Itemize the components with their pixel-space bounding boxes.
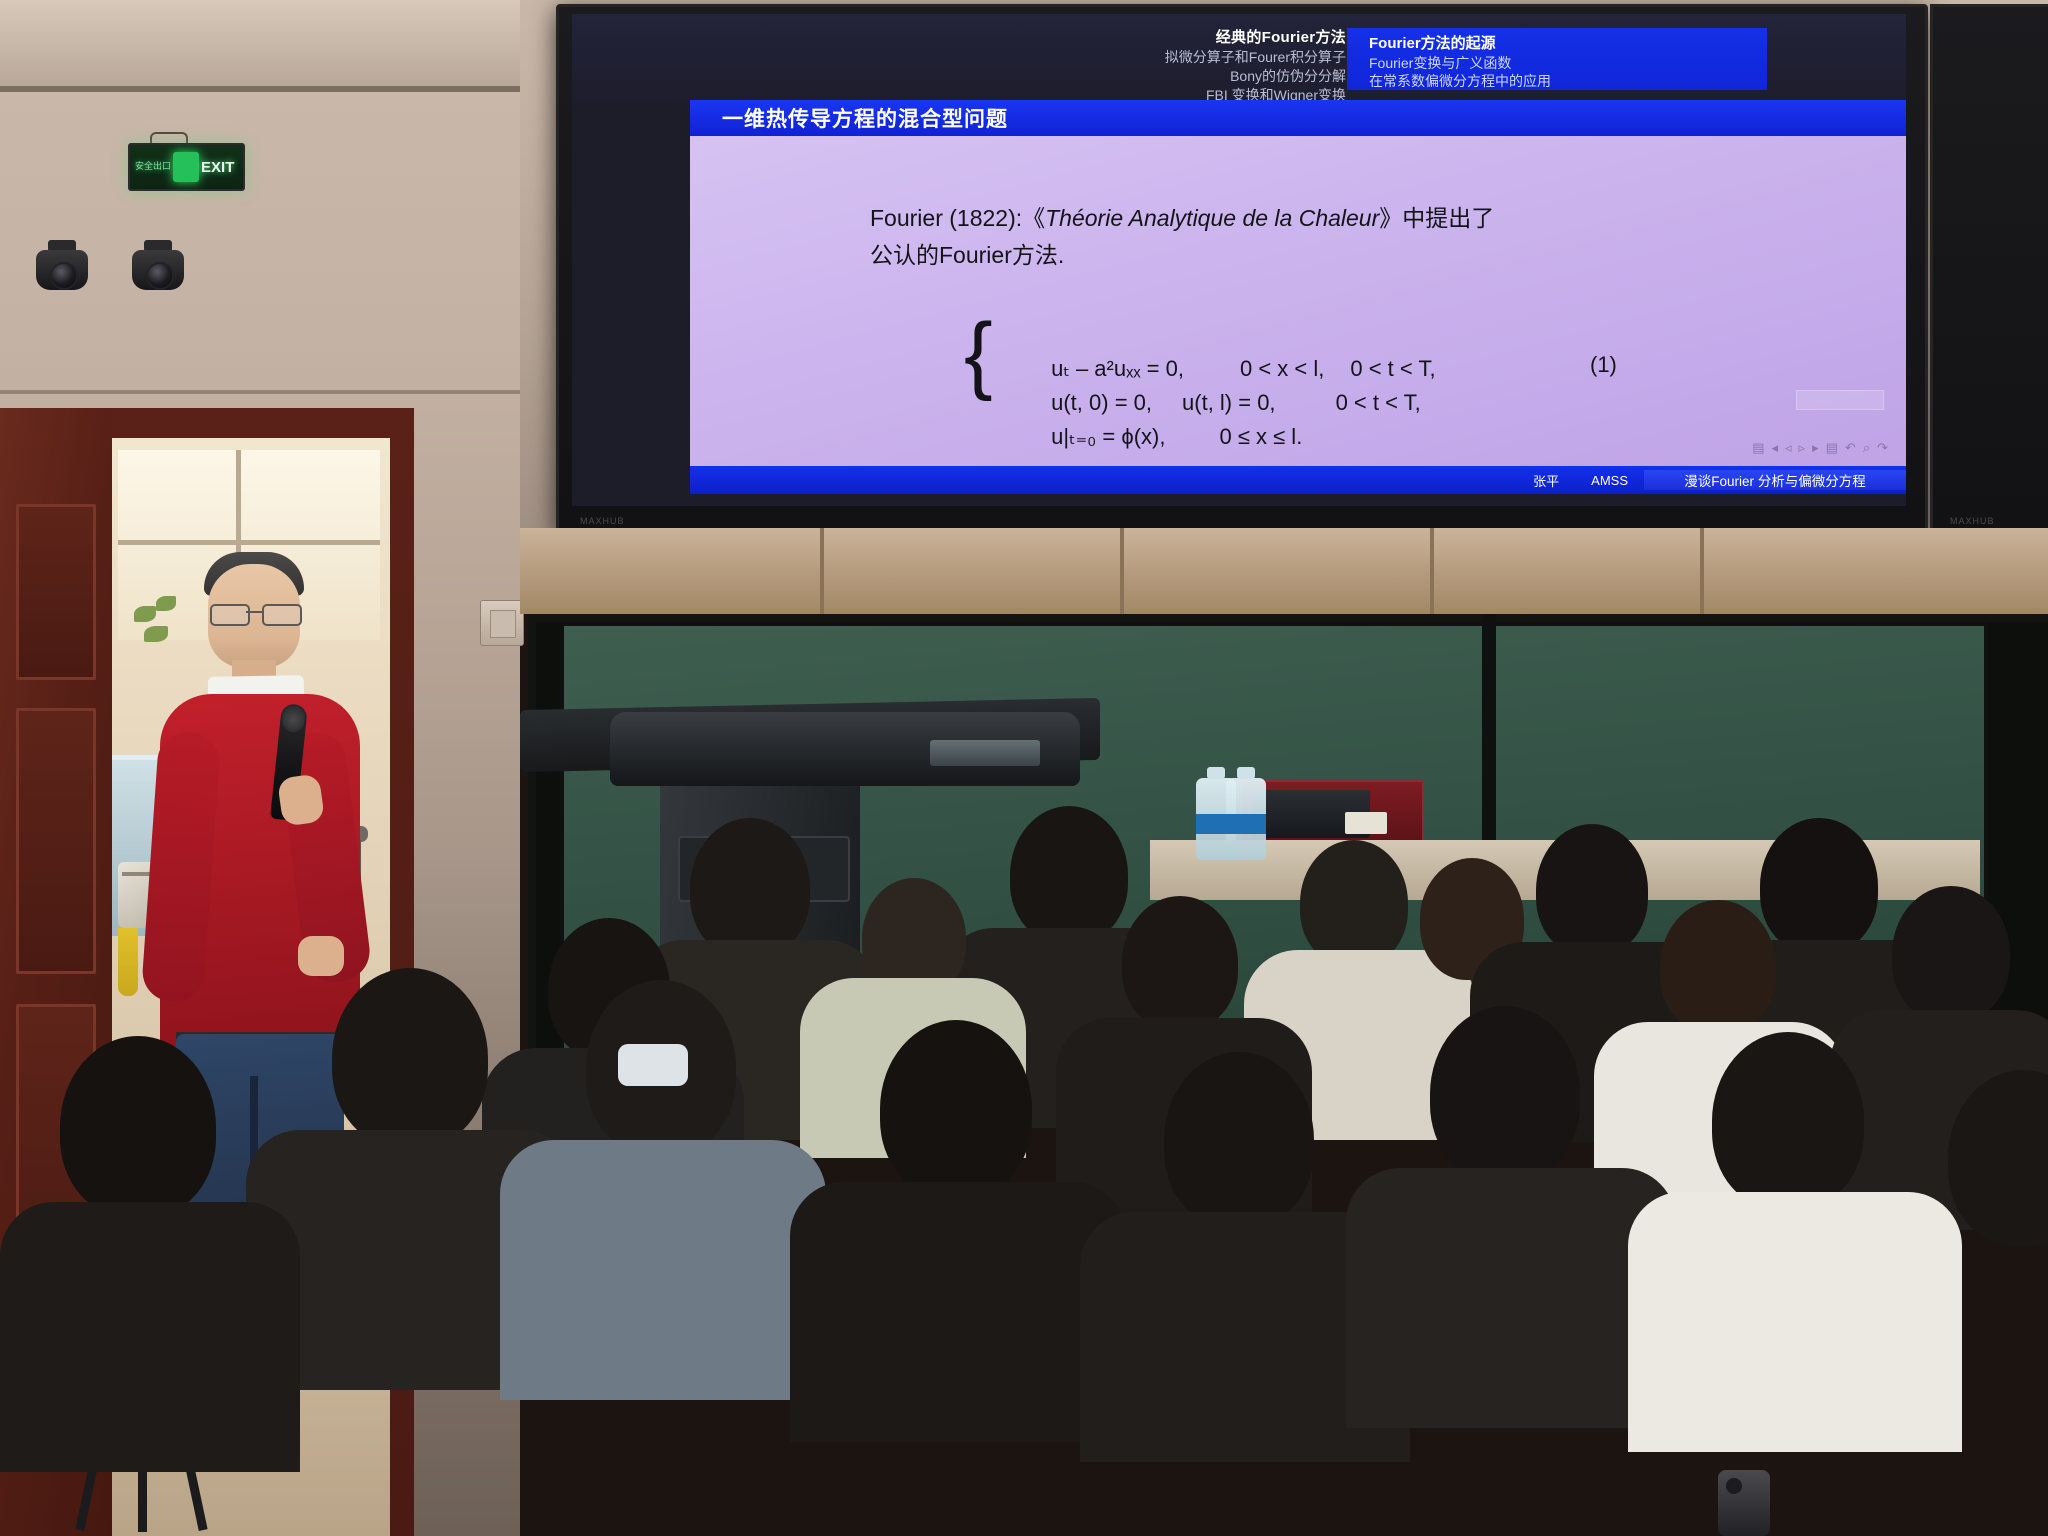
equation-system: { uₜ – a²uₓₓ = 0,0 < x < l,0 < t < T, u(… bbox=[990, 318, 1436, 420]
water-bottle bbox=[1226, 778, 1266, 860]
display-bezel-secondary bbox=[1930, 4, 2048, 534]
lectern-control-panel[interactable] bbox=[930, 740, 1040, 766]
exit-sign-chinese-label: 安全出口 bbox=[130, 162, 171, 171]
wall-seam bbox=[0, 390, 520, 394]
forward-icon[interactable]: ↷ bbox=[1877, 440, 1888, 456]
jeans bbox=[176, 1034, 344, 1314]
paragraph-line1-post: 》中提出了 bbox=[1379, 205, 1494, 231]
book-title-italic: Théorie Analytique de la Chaleur bbox=[1045, 205, 1379, 231]
back-icon[interactable]: ↶ bbox=[1845, 440, 1856, 456]
equation-row: uₜ – a²uₓₓ = 0,0 < x < l,0 < t < T, bbox=[990, 318, 1436, 352]
slide-footer: 张平 AMSS 漫谈Fourier 分析与偏微分方程 bbox=[690, 466, 1906, 494]
lectern-equipment-box bbox=[678, 836, 850, 902]
equation-lhs: uₜ – a²uₓₓ = 0, bbox=[1051, 356, 1184, 381]
phone-camera-icon bbox=[1726, 1478, 1742, 1494]
jeans-seam bbox=[250, 1076, 258, 1316]
slide-content-area: Fourier (1822):《Théorie Analytique de la… bbox=[690, 136, 1906, 466]
footer-author: 张平 bbox=[1517, 471, 1575, 490]
display-brand-label-secondary: MAXHUB bbox=[1950, 516, 1995, 526]
equation-cond2: 0 < t < T, bbox=[1350, 356, 1435, 381]
wall-wood-band bbox=[520, 528, 2048, 614]
audience-shoulders bbox=[1628, 1192, 1962, 1452]
camera-tripod bbox=[84, 1322, 204, 1536]
ptz-camera-right bbox=[132, 240, 184, 292]
paragraph-line1-pre: Fourier (1822):《 bbox=[870, 205, 1045, 231]
beamer-nav-section-left[interactable]: 经典的Fourier方法 拟微分算子和Fourer积分算子 Bony的仿伪分分解… bbox=[1165, 28, 1346, 104]
projected-slide: 经典的Fourier方法 拟微分算子和Fourer积分算子 Bony的仿伪分分解… bbox=[572, 14, 1906, 506]
prev-frame-icon[interactable]: ◂ bbox=[1771, 440, 1778, 456]
microphone-grille bbox=[281, 705, 306, 733]
last-frame-icon[interactable]: ▤ bbox=[1826, 440, 1838, 456]
door-panel bbox=[16, 1004, 96, 1310]
eyeglasses bbox=[206, 604, 302, 622]
left-brace-icon: { bbox=[964, 314, 993, 396]
exit-sign: 安全出口 EXIT bbox=[128, 143, 245, 191]
nav-item[interactable]: Bony的仿伪分分解 bbox=[1165, 67, 1346, 86]
nav-item[interactable]: 拟微分算子和Fourer积分算子 bbox=[1165, 48, 1346, 67]
switch-rocker[interactable] bbox=[490, 610, 516, 638]
lecture-hall-scene: 安全出口 EXIT MAXHUB MAXHUB bbox=[0, 0, 2048, 1536]
nav-current-subsection: Fourier方法的起源 bbox=[1369, 34, 1767, 54]
slide-overview-icon[interactable]: ▤ bbox=[1752, 440, 1764, 456]
equation-cond1: u(t, l) = 0, bbox=[1182, 390, 1276, 415]
wall-upper-panel bbox=[0, 0, 520, 88]
footer-talk-title: 漫谈Fourier 分析与偏微分方程 bbox=[1644, 470, 1906, 490]
phone-held-up[interactable] bbox=[1718, 1470, 1770, 1536]
ptz-camera-left bbox=[36, 240, 88, 292]
wood-band-divider bbox=[820, 528, 824, 614]
audience-shoulders bbox=[500, 1140, 826, 1400]
speaker-other-hand bbox=[298, 936, 344, 976]
speaker-hand-holding-mic bbox=[277, 773, 325, 826]
beamer-nav-section-highlight[interactable]: Fourier方法的起源 Fourier变换与广义函数 在常系数偏微分方程中的应… bbox=[1347, 28, 1767, 90]
screen-watermark bbox=[1796, 390, 1884, 410]
door-panel bbox=[16, 708, 96, 974]
next-frame-icon[interactable]: ▸ bbox=[1812, 440, 1819, 456]
light-switch-plate[interactable] bbox=[480, 600, 524, 646]
nav-current-section: 经典的Fourier方法 bbox=[1165, 28, 1346, 48]
yellow-cord bbox=[118, 928, 138, 996]
exit-sign-english-label: EXIT bbox=[201, 159, 239, 176]
audience-shoulders bbox=[1080, 1212, 1410, 1462]
door-panel bbox=[16, 504, 96, 680]
wood-band-divider bbox=[1430, 528, 1434, 614]
camera-lens-icon bbox=[50, 262, 78, 290]
beamer-navigation-icons[interactable]: ▤ ◂ ◃ ▹ ▸ ▤ ↶ ⌕ ↷ bbox=[1752, 440, 1888, 456]
audience-shoulders bbox=[790, 1182, 1126, 1442]
display-brand-label: MAXHUB bbox=[580, 516, 625, 526]
equation-cond1: 0 < x < l, bbox=[1240, 356, 1324, 381]
wood-band-divider bbox=[1120, 528, 1124, 614]
equation-lhs: u(t, 0) = 0, bbox=[1051, 390, 1152, 415]
footer-institute: AMSS bbox=[1575, 473, 1644, 488]
nav-item[interactable]: Fourier变换与广义函数 bbox=[1369, 54, 1767, 72]
paper-tray bbox=[1345, 812, 1387, 834]
speaker-presenter bbox=[150, 556, 380, 1256]
slide-title-text: 一维热传导方程的混合型问题 bbox=[690, 103, 1008, 133]
audience-shoulders bbox=[1346, 1168, 1676, 1428]
nav-item[interactable]: 在常系数偏微分方程中的应用 bbox=[1369, 72, 1767, 90]
wall-panel-divider bbox=[0, 86, 520, 92]
equation-lhs: u|ₜ₌₀ = ϕ(x), bbox=[1051, 424, 1165, 449]
slide-paragraph: Fourier (1822):《Théorie Analytique de la… bbox=[870, 200, 1770, 275]
search-icon[interactable]: ⌕ bbox=[1863, 440, 1870, 456]
slide-title-bar: 一维热传导方程的混合型问题 bbox=[690, 100, 1906, 136]
wood-band-divider bbox=[1700, 528, 1704, 614]
running-man-icon bbox=[173, 152, 199, 182]
side-table bbox=[1150, 840, 1980, 900]
window-mullion bbox=[118, 540, 380, 545]
paragraph-line2: 公认的Fourier方法. bbox=[870, 242, 1064, 268]
equation-cond2: 0 < t < T, bbox=[1336, 390, 1421, 415]
equation-number: (1) bbox=[1590, 352, 1617, 378]
prev-section-icon[interactable]: ◃ bbox=[1785, 440, 1792, 456]
equation-cond1: 0 ≤ x ≤ l. bbox=[1219, 424, 1302, 449]
next-section-icon[interactable]: ▹ bbox=[1799, 440, 1806, 456]
camera-lens-icon bbox=[146, 262, 174, 290]
